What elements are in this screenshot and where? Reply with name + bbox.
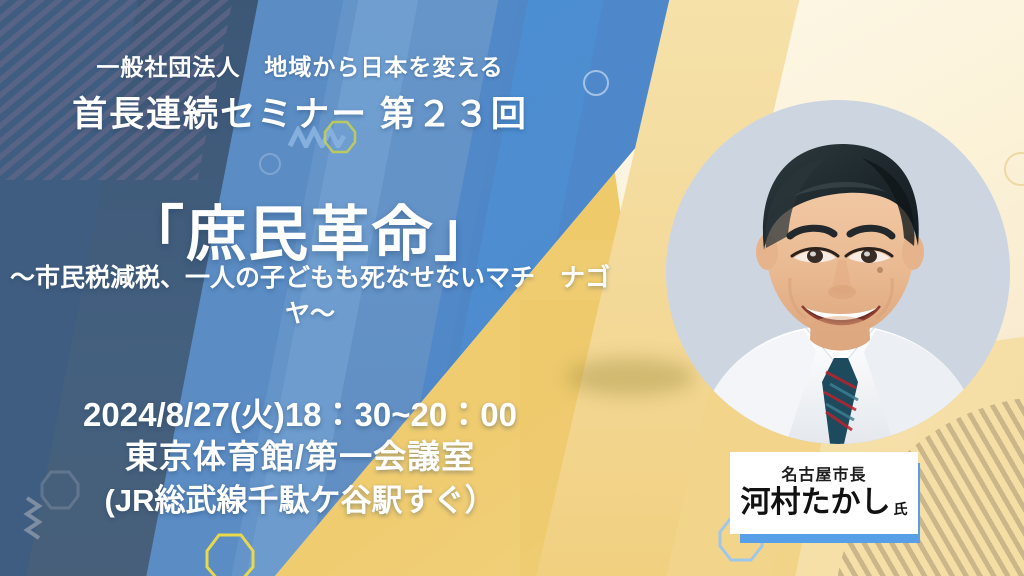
speaker-name-card: 名古屋市長 河村たかし 氏 [730, 452, 918, 534]
event-datetime: 2024/8/27(火)18：30~20：00 [0, 388, 600, 436]
speaker-role: 名古屋市長 [781, 468, 866, 484]
speaker-name: 河村たかし [741, 488, 891, 518]
event-venue: 東京体育館/第一会議室 [0, 430, 600, 478]
speaker-honorific: 氏 [894, 502, 908, 518]
speaker-portrait [666, 100, 1010, 444]
event-access: (JR総武線千駄ケ谷駅すぐ） [0, 475, 600, 520]
organizer-text: 一般社団法人 地域から日本を変える [0, 48, 600, 82]
series-title: 首長連続セミナー 第２３回 [0, 86, 600, 137]
circle-outline-icon [259, 153, 281, 175]
seminar-banner: 一般社団法人 地域から日本を変える 首長連続セミナー 第２３回 「庶民革命」 〜… [0, 0, 1024, 576]
subtitle-text: 〜市民税減税、一人の子どもも死なせないマチ ナゴヤ〜 [0, 258, 620, 330]
hexagon-outline-icon [205, 533, 255, 576]
speaker-name-line: 河村たかし 氏 [741, 488, 908, 518]
